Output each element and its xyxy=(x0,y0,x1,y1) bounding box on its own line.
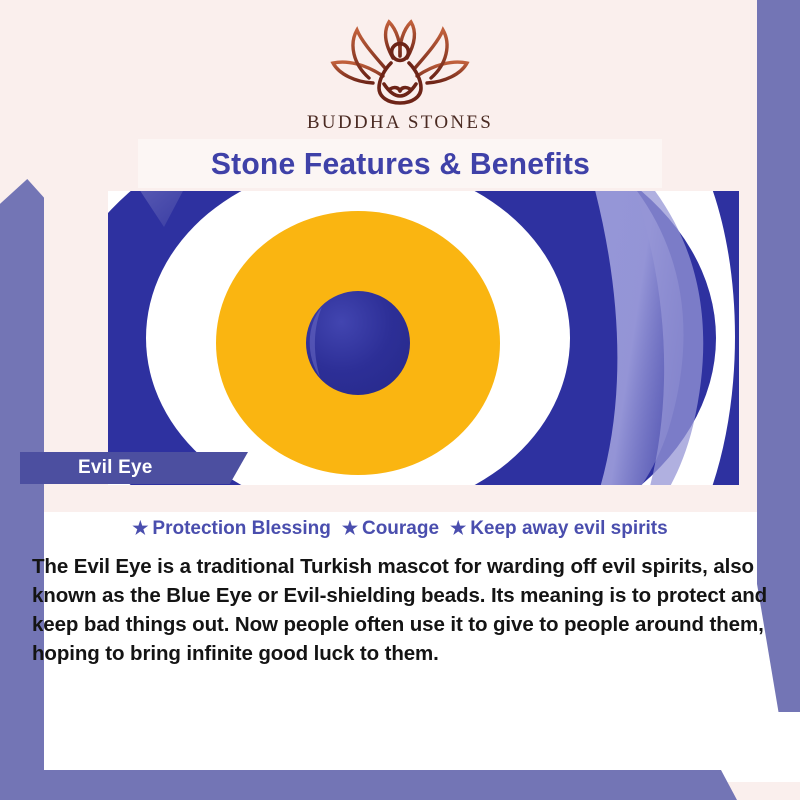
product-description: The Evil Eye is a traditional Turkish ma… xyxy=(32,552,774,668)
product-image xyxy=(108,191,739,485)
benefits-list: ★ Protection Blessing ★ Courage ★ Keep a… xyxy=(0,518,800,540)
benefit-label: Protection Blessing xyxy=(148,518,330,540)
product-caption-label: Evil Eye xyxy=(78,457,152,479)
brand-name: BUDDHA STONES xyxy=(0,112,800,134)
star-icon: ★ xyxy=(342,519,358,537)
title-banner: Stone Features & Benefits xyxy=(138,139,662,188)
page-title: Stone Features & Benefits xyxy=(210,146,589,182)
product-caption-ribbon: Evil Eye xyxy=(20,452,248,484)
brand-logo: BUDDHA STONES xyxy=(0,18,800,134)
frame-accent-bottom xyxy=(0,770,705,800)
frame-accent-left xyxy=(0,179,44,800)
star-icon: ★ xyxy=(450,519,466,537)
lotus-meditation-icon xyxy=(305,18,495,110)
benefit-item-courage: ★ Courage xyxy=(342,518,439,540)
evil-eye-graphic xyxy=(108,191,739,485)
infographic-card: BUDDHA STONES Stone Features & Benefits xyxy=(0,0,800,800)
benefit-item-protection-blessing: ★ Protection Blessing xyxy=(132,518,331,540)
benefit-label: Keep away evil spirits xyxy=(466,518,668,540)
star-icon: ★ xyxy=(132,519,148,537)
benefit-item-keep-away-evil-spirits: ★ Keep away evil spirits xyxy=(450,518,668,540)
benefit-label: Courage xyxy=(358,518,439,540)
